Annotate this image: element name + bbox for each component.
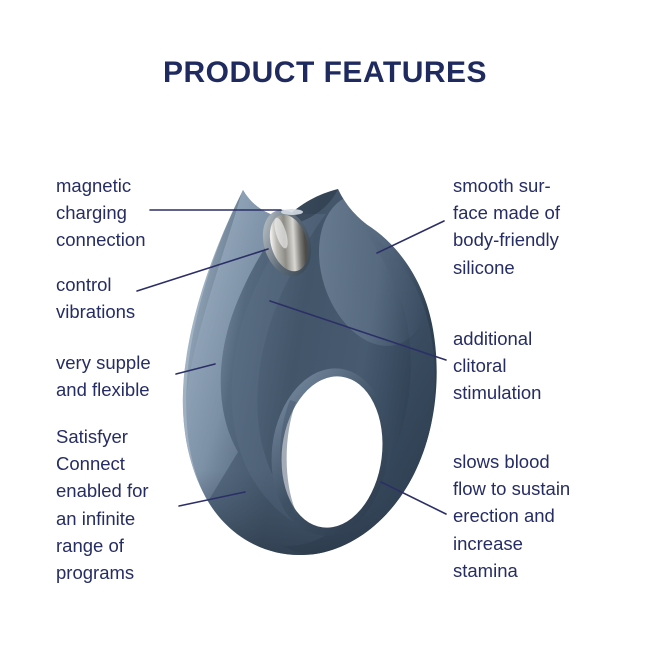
feature-label-control-vibrations: control vibrations — [56, 271, 135, 325]
leader-line-smooth — [377, 221, 444, 253]
leader-line-blood — [381, 482, 446, 514]
product-body — [170, 180, 460, 570]
leader-line-control — [137, 249, 268, 291]
feature-label-slows-blood-flow: slows blood flow to sustain erection and… — [453, 448, 570, 584]
product-silhouette — [183, 189, 437, 555]
leader-lines — [137, 210, 446, 514]
leader-line-connect — [179, 492, 245, 506]
button-highlight — [272, 216, 291, 250]
feature-label-very-supple: very supple and flexible — [56, 349, 151, 403]
page-title: PRODUCT FEATURES — [0, 56, 650, 90]
ring-hole — [273, 370, 391, 533]
feature-label-magnetic-charging: magnetic charging connection — [56, 172, 145, 254]
product-top-saddle-shadow — [286, 189, 338, 224]
button-face — [263, 210, 314, 276]
product-right-mass — [282, 188, 435, 555]
product-cross-fold — [232, 214, 330, 536]
product-left-flap — [185, 188, 292, 508]
product-features-infographic: PRODUCT FEATURES — [0, 0, 650, 650]
product-ring-opening — [262, 362, 398, 543]
leader-line-supple — [176, 364, 215, 374]
product-bottom-shadow — [170, 470, 460, 570]
feature-label-satisfyer-connect: Satisfyer Connect enabled for an infinit… — [56, 423, 149, 586]
metallic-control-button[interactable] — [255, 204, 319, 282]
ring-hole-inner-shadow — [280, 400, 300, 520]
feature-label-smooth-surface: smooth sur- face made of body-friendly s… — [453, 172, 560, 281]
product-top-notch-highlight — [281, 209, 303, 215]
product-specular-right — [300, 180, 447, 361]
feature-label-clitoral-stimulation: additional clitoral stimulation — [453, 325, 541, 407]
leader-line-clitoral — [270, 301, 446, 360]
product-left-rim-light — [177, 192, 240, 498]
button-bezel — [255, 204, 319, 282]
